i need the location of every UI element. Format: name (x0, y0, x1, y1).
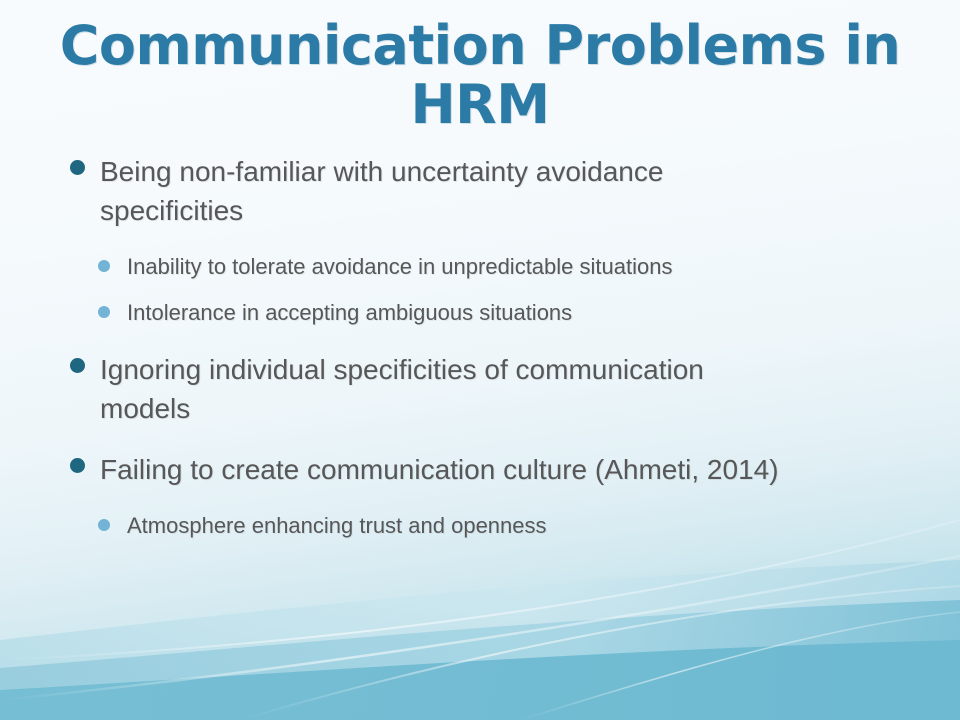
bullet-text: Atmosphere enhancing trust and openness (127, 511, 847, 541)
bullet-text: Inability to tolerate avoidance in unpre… (127, 252, 847, 282)
bullet-text: Failing to create communication culture … (100, 450, 800, 489)
bullet-dot-icon (98, 306, 110, 318)
bullet-dot-icon (98, 519, 110, 531)
bullet-text: Being non-familiar with uncertainty avoi… (100, 152, 800, 230)
bullet-dot-icon (98, 260, 110, 272)
bullet-dot-icon (70, 358, 85, 373)
bullet-item-level2: Intolerance in accepting ambiguous situa… (0, 298, 960, 328)
bullet-dot-icon (70, 458, 85, 473)
bullet-item-level1: Being non-familiar with uncertainty avoi… (0, 152, 960, 230)
slide: Communication Problems in HRM Being non-… (0, 0, 960, 720)
bullet-item-level2: Inability to tolerate avoidance in unpre… (0, 252, 960, 282)
bullet-text: Intolerance in accepting ambiguous situa… (127, 298, 847, 328)
slide-title-line-1: Communication Problems in (40, 16, 920, 75)
bullet-dot-icon (70, 160, 85, 175)
slide-title-line-2: HRM (40, 75, 920, 134)
bullet-item-level1: Failing to create communication culture … (0, 450, 960, 489)
slide-body-content: Being non-familiar with uncertainty avoi… (0, 152, 960, 557)
bullet-text: Ignoring individual specificities of com… (100, 350, 800, 428)
slide-title: Communication Problems in HRM (40, 16, 920, 134)
bullet-item-level1: Ignoring individual specificities of com… (0, 350, 960, 428)
bullet-item-level2: Atmosphere enhancing trust and openness (0, 511, 960, 541)
